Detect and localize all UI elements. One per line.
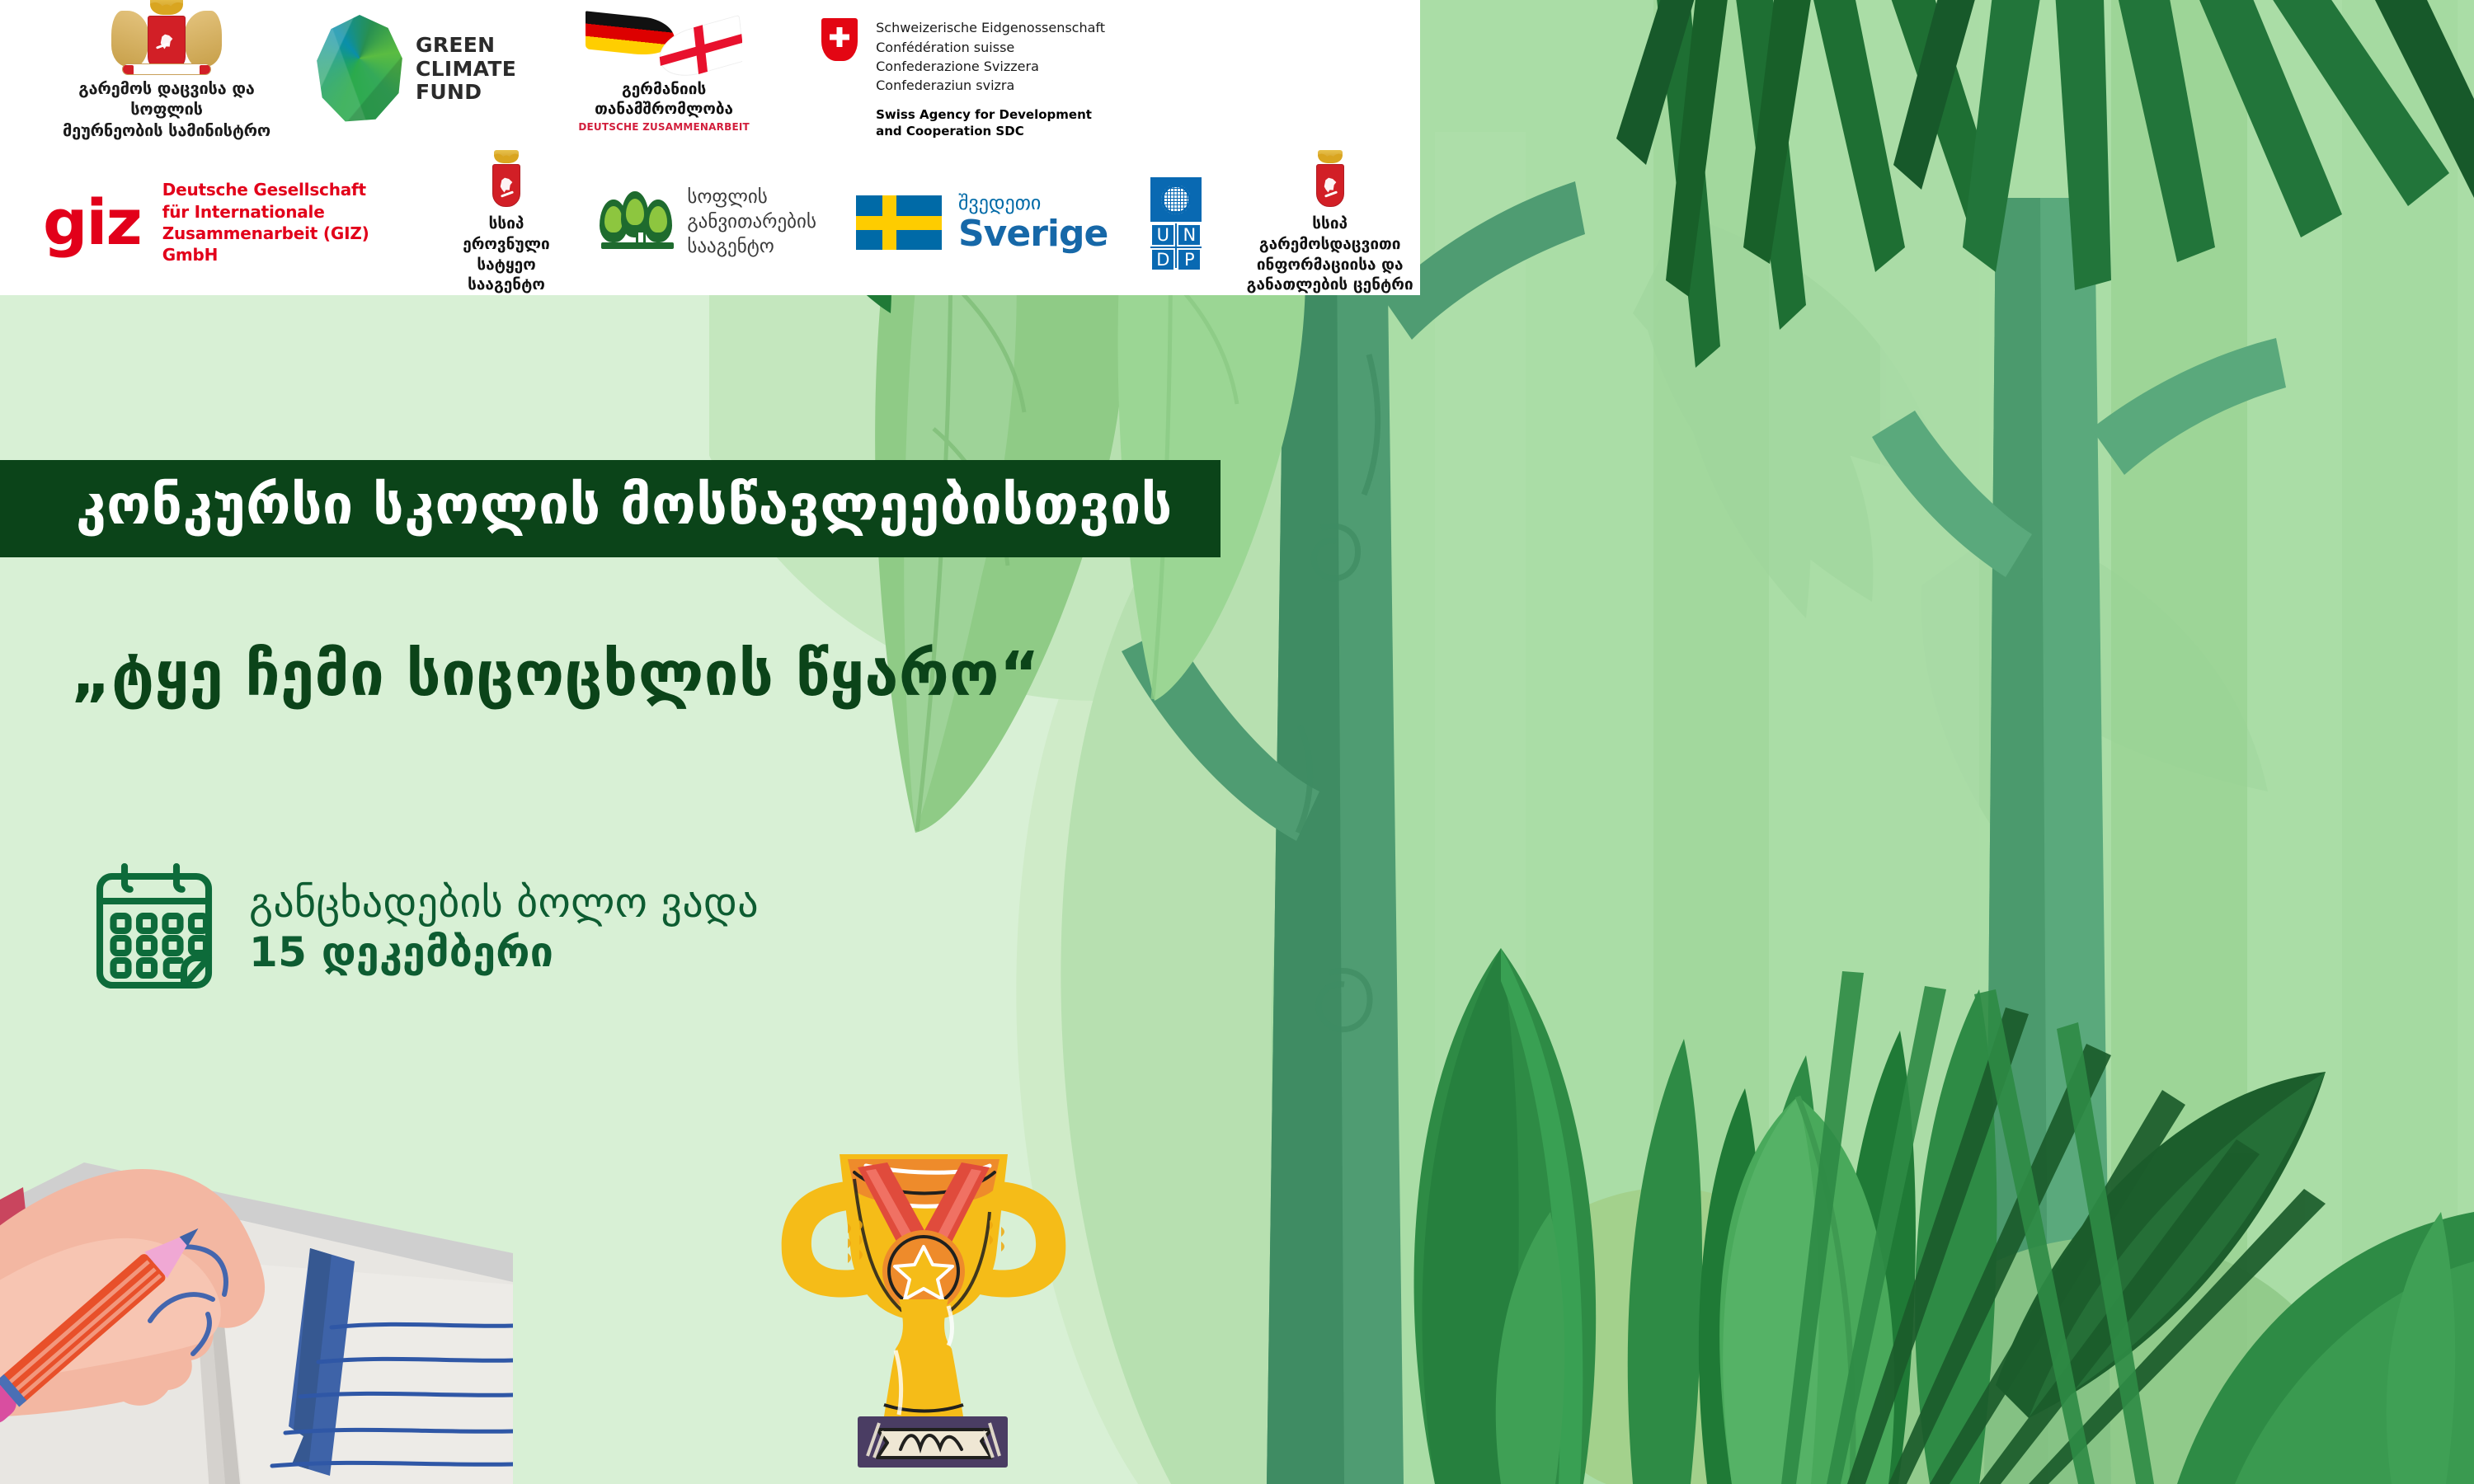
three-trees-icon	[600, 195, 675, 251]
logo-row-bottom: giz Deutsche Gesellschaft für Internatio…	[43, 165, 1420, 280]
sdc-line2: Confédération suisse	[876, 38, 1105, 57]
swiss-shield-icon	[821, 18, 858, 61]
undp-logo-icon: U N D P	[1150, 177, 1202, 268]
giz-line2: für Internationale	[162, 201, 412, 223]
undp-letter-n: N	[1177, 223, 1202, 247]
sdc-line3: Confederazione Svizzera	[876, 57, 1105, 76]
ministry-label-line2: მეურნეობის სამინისტრო	[43, 120, 290, 142]
ministry-label-line1: გარემოს დაცვისა და სოფლის	[43, 78, 290, 120]
sweden-flag-icon	[856, 195, 942, 250]
deadline-label: განცხადების ბოლო ვადა	[249, 880, 759, 926]
logo-undp: U N D P	[1150, 177, 1202, 268]
logo-rural-development-agency: სოფლის განვითარების სააგენტო	[600, 185, 816, 260]
sdc-bold-line2: and Cooperation SDC	[876, 123, 1105, 139]
sdc-line4: Confederaziun svizra	[876, 76, 1105, 95]
giz-wordmark-icon: giz	[43, 197, 141, 248]
gcf-label-line2: CLIMATE	[416, 58, 516, 82]
undp-letter-p: P	[1177, 248, 1202, 271]
giz-line3: Zusammenarbeit (GIZ) GmbH	[162, 223, 412, 266]
contest-theme-subtitle: „ტყე ჩემი სიცოცხლის წყარო“	[71, 639, 1040, 710]
undp-letter-u: U	[1150, 223, 1175, 247]
logo-row-top: გარემოს დაცვისა და სოფლის მეურნეობის სამ…	[43, 3, 1105, 135]
undp-letter-d: D	[1150, 248, 1175, 271]
logo-sweden-sverige: შვედეთი Sverige	[856, 193, 1108, 252]
calendar-icon	[92, 862, 216, 993]
sweden-line1: შვედეთი	[958, 193, 1108, 213]
poster-canvas: გარემოს დაცვისა და სოფლის მეურნეობის სამ…	[0, 0, 2474, 1484]
rda-line3: სააგენტო	[687, 235, 816, 260]
logo-deutsche-zusammenarbeit: გერმანიის თანამშრომლობა DEUTSCHE ZUSAMME…	[553, 6, 775, 134]
nfa-line2: სატყეო სააგენტო	[448, 255, 566, 295]
deadline-block: განცხადების ბოლო ვადა 15 დეკემბერი	[92, 862, 759, 993]
georgia-coat-of-arms-icon	[105, 0, 228, 73]
logo-giz: giz Deutsche Gesellschaft für Internatio…	[43, 179, 412, 266]
gcf-label-line1: GREEN	[416, 34, 516, 58]
nfa-line1: სსიპ ეროვნული	[448, 214, 566, 254]
georgia-coat-of-arms-icon	[492, 150, 520, 207]
sdc-line1: Schweizerische Eidgenossenschaft	[876, 18, 1105, 37]
headline-banner: კონკურსი სკოლის მოსწავლეებისთვის	[0, 460, 1221, 557]
logo-swiss-agency-sdc: Schweizerische Eidgenossenschaft Confédé…	[821, 0, 1105, 140]
sponsor-logo-band: გარემოს დაცვისა და სოფლის მეურნეობის სამ…	[0, 0, 1420, 295]
giz-line1: Deutsche Gesellschaft	[162, 179, 412, 200]
eiec-line1: სსიპ გარემოსდაცვითი	[1239, 214, 1420, 254]
rda-line1: სოფლის	[687, 185, 816, 210]
dz-label-line1: გერმანიის	[595, 80, 733, 100]
gcf-label-line3: FUND	[416, 81, 516, 105]
logo-national-forestry-agency: სსიპ ეროვნული სატყეო სააგენტო	[448, 150, 566, 295]
gold-trophy-with-medal-illustration	[742, 1129, 1105, 1484]
page-title: კონკურსი სკოლის მოსწავლეებისთვის	[76, 473, 1173, 537]
gcf-gem-icon	[315, 15, 404, 124]
eiec-line2: ინფორმაციისა და	[1239, 255, 1420, 275]
georgia-coat-of-arms-icon	[1316, 150, 1344, 207]
logo-green-climate-fund: GREEN CLIMATE FUND	[315, 15, 516, 124]
hand-writing-in-notebook-illustration	[0, 1064, 513, 1484]
deadline-date: 15 დეკემბერი	[249, 929, 759, 975]
germany-georgia-ribbon-flag-icon	[586, 11, 742, 82]
sweden-line2: Sverige	[958, 216, 1108, 252]
logo-ministry-of-environmental-protection: გარემოს დაცვისა და სოფლის მეურნეობის სამ…	[43, 0, 290, 141]
logo-environmental-information-and-education-centre: სსიპ გარემოსდაცვითი ინფორმაციისა და განა…	[1239, 150, 1420, 295]
rda-line2: განვითარების	[687, 210, 816, 235]
dz-label-line2: თანამშრომლობა	[595, 100, 733, 120]
eiec-line3: განათლების ცენტრი	[1239, 275, 1420, 295]
sdc-bold-line1: Swiss Agency for Development	[876, 106, 1105, 123]
dz-label-line3: DEUTSCHE ZUSAMMENARBEIT	[578, 121, 750, 133]
